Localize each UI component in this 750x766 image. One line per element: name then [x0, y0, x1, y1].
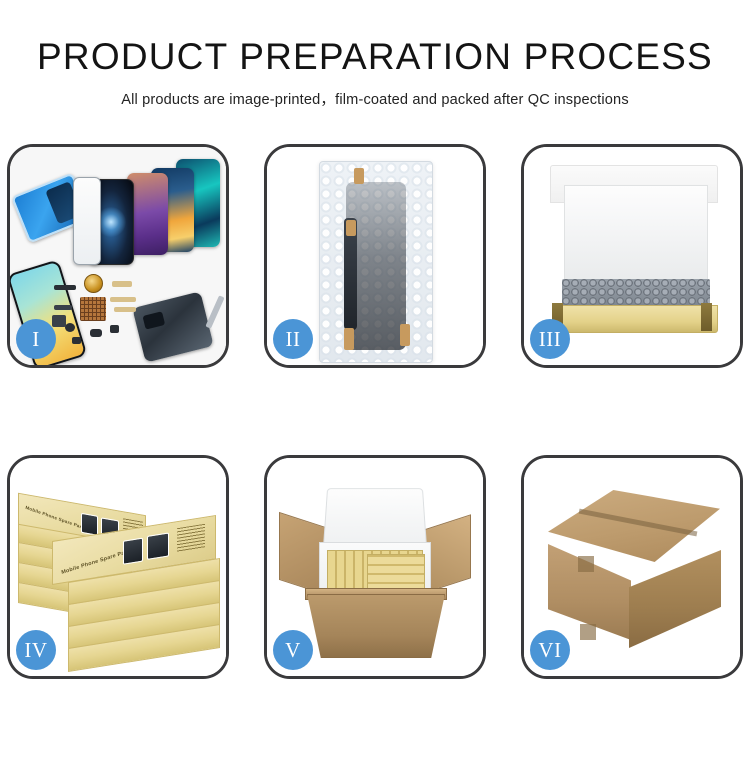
process-step-panel-2[interactable]: II [264, 144, 486, 368]
step-badge-4: IV [16, 630, 56, 670]
page-subtitle: All products are image-printed，film-coat… [0, 88, 750, 109]
phone-image-icon [147, 532, 169, 559]
chip-part-icon [110, 325, 119, 333]
process-row-1: I II [0, 144, 750, 368]
step-badge-5: V [273, 630, 313, 670]
bubble-wrap-bag-icon [319, 161, 433, 363]
step-badge-1: I [16, 319, 56, 359]
flex-cable-icon [52, 315, 66, 327]
step-badge-3: III [530, 319, 570, 359]
spec-lines-icon [177, 524, 205, 552]
page-title: PRODUCT PREPARATION PROCESS [0, 38, 750, 77]
phone-image-icon [81, 513, 98, 536]
bubble-wrapped-items-icon [562, 279, 710, 307]
phone-image-icon [123, 538, 143, 565]
carton-tab-icon [580, 624, 596, 640]
step-badge-2: II [273, 319, 313, 359]
chip-part-icon [65, 323, 75, 332]
process-step-panel-6[interactable]: VI [521, 455, 743, 679]
process-step-panel-4[interactable]: Mobile Phone Spare Parts Mobile Phone Sp… [7, 455, 229, 679]
step-3-image: III [524, 147, 740, 365]
flex-cable-icon [114, 307, 136, 312]
box-side-tab-icon [701, 303, 712, 331]
carton-front-icon [307, 594, 445, 658]
connector-tab-icon [400, 324, 410, 346]
flex-cable-icon [54, 305, 72, 310]
phone-display-blank-icon [73, 177, 101, 265]
box-label-text: Mobile Phone Spare Parts [61, 548, 132, 576]
process-step-panel-3[interactable]: III [521, 144, 743, 368]
page-header: PRODUCT PREPARATION PROCESS All products… [0, 0, 750, 109]
chip-part-icon [90, 329, 102, 337]
step-badge-6: VI [530, 630, 570, 670]
process-row-2: Mobile Phone Spare Parts Mobile Phone Sp… [0, 455, 750, 679]
flex-cable-icon [112, 281, 132, 287]
process-step-panel-1[interactable]: I [7, 144, 229, 368]
box-label-text: Mobile Phone Spare Parts [25, 505, 86, 531]
step-5-image: V [267, 458, 483, 676]
chip-part-icon [72, 337, 81, 344]
chip-part-icon [54, 285, 76, 290]
step-1-image: I [10, 147, 226, 365]
copper-mesh-icon [80, 297, 106, 321]
foam-sheet-icon [564, 185, 708, 283]
kraft-box-front-icon [554, 305, 718, 333]
step-4-image: Mobile Phone Spare Parts Mobile Phone Sp… [10, 458, 226, 676]
connector-tab-icon [344, 328, 354, 350]
connector-tab-icon [346, 220, 356, 236]
process-grid: I II [0, 144, 750, 766]
connector-tab-icon [354, 168, 364, 184]
flex-cable-icon [110, 297, 136, 302]
packed-kraft-boxes-icon [367, 554, 425, 592]
step-6-image: VI [524, 458, 740, 676]
carton-tab-icon [578, 556, 594, 572]
speaker-coil-icon [84, 274, 103, 293]
step-2-image: II [267, 147, 483, 365]
process-step-panel-5[interactable]: V [264, 455, 486, 679]
